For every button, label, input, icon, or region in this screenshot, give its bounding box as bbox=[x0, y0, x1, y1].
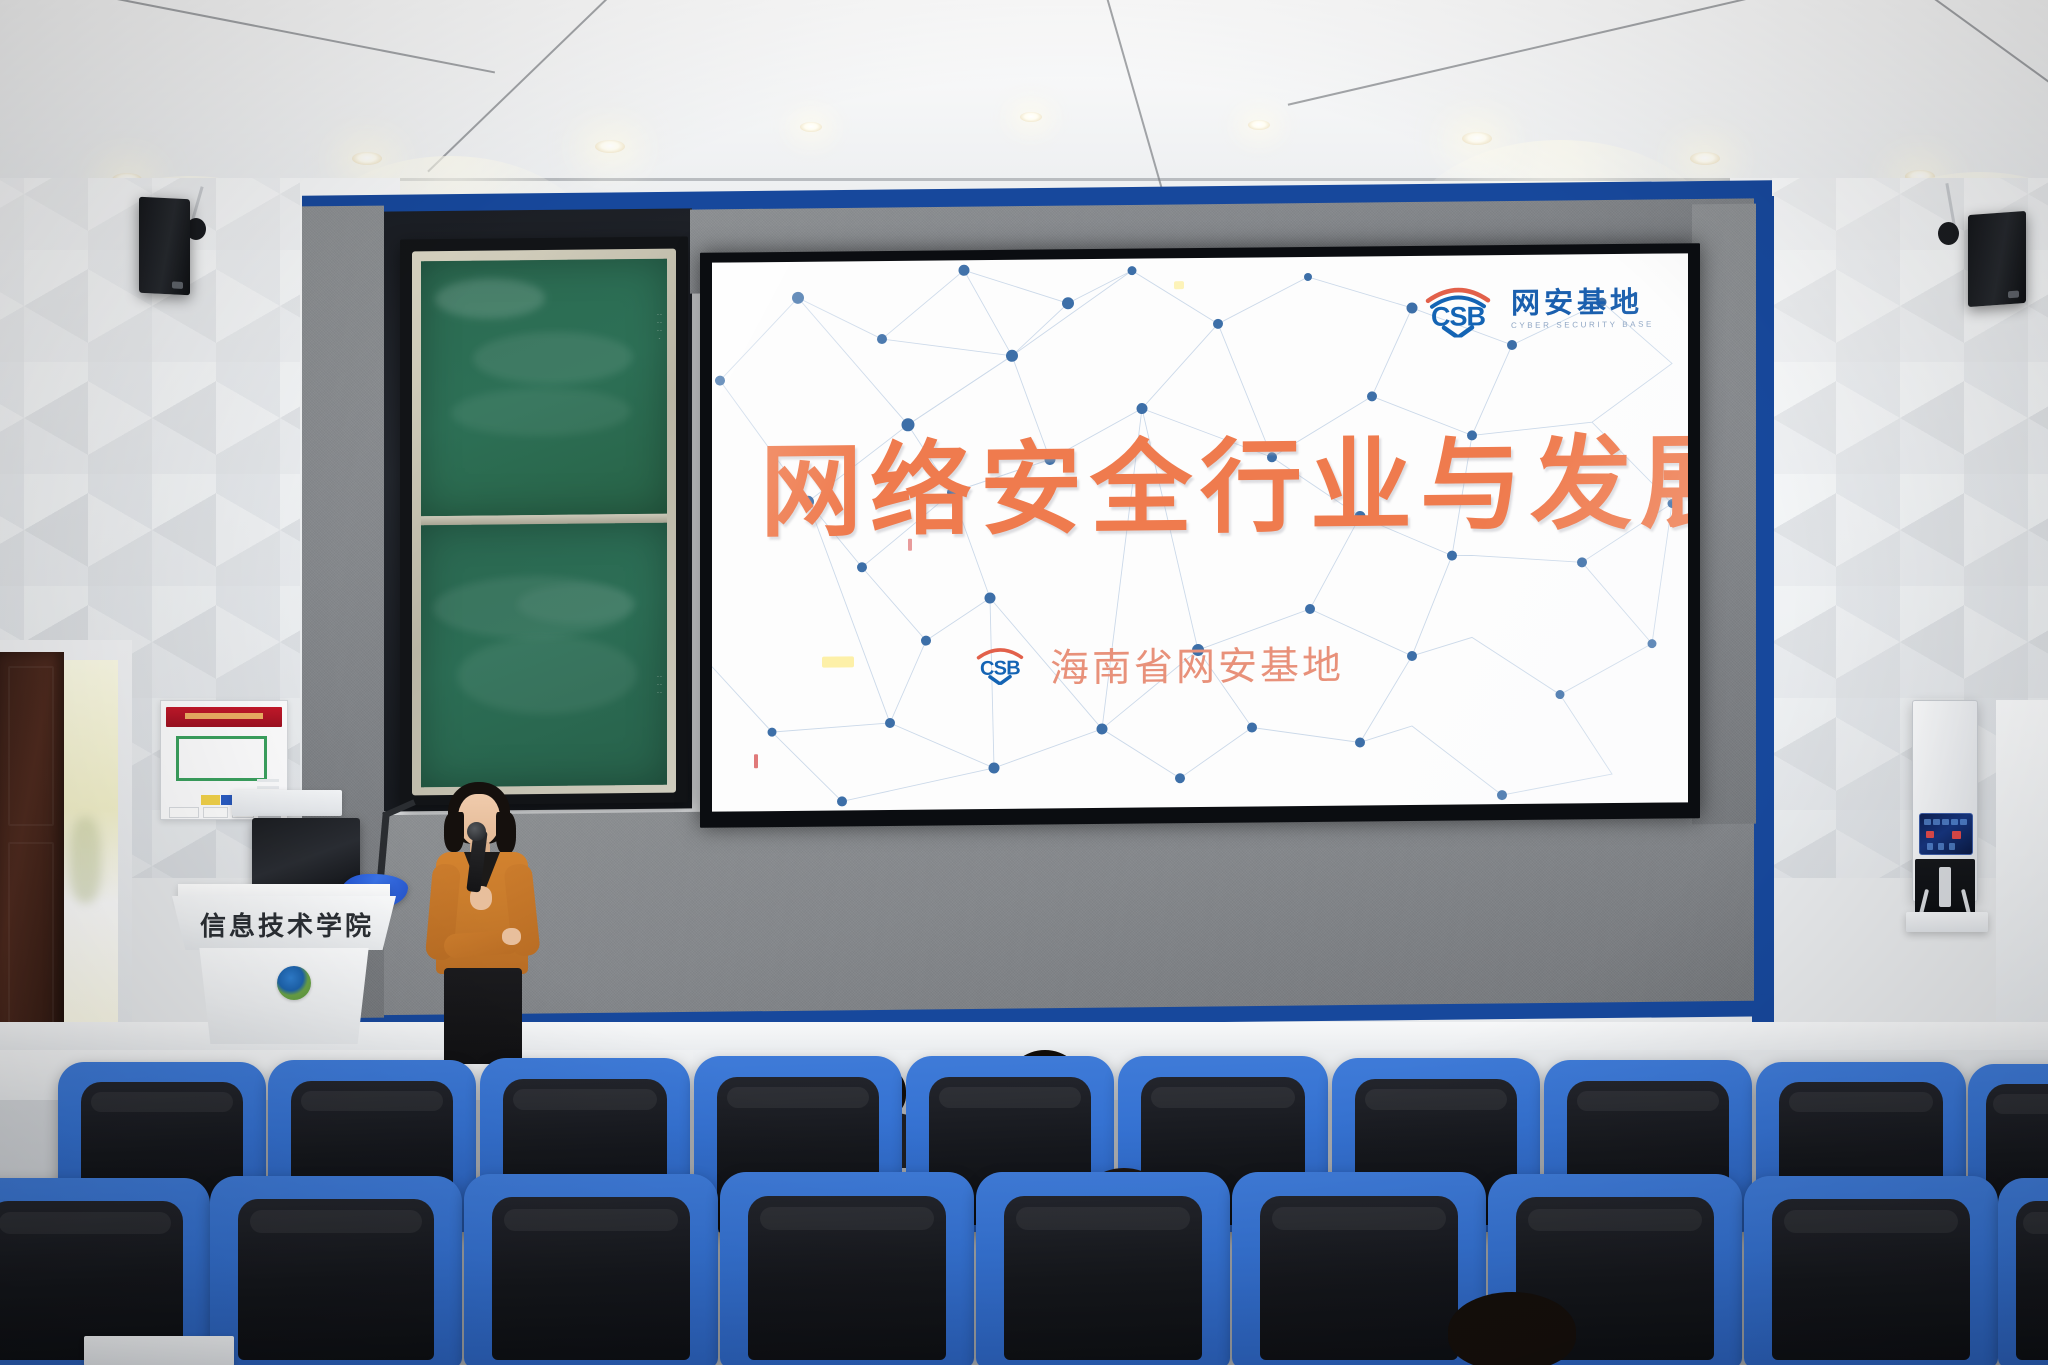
slide-subtitle-block: CSB 海南省网安基地 bbox=[970, 635, 1344, 695]
ceiling-spotlight bbox=[595, 140, 625, 153]
kiosk-screen-icon[interactable] bbox=[1919, 813, 1973, 855]
wall-socket-panel bbox=[232, 790, 342, 816]
presenter-skirt bbox=[444, 968, 522, 1064]
doorway-light bbox=[62, 660, 118, 1052]
brand-chinese-name: 网安基地 bbox=[1511, 287, 1654, 317]
ceiling-spotlight bbox=[352, 152, 382, 165]
ceiling bbox=[0, 0, 2048, 205]
auditorium-seat[interactable] bbox=[210, 1176, 462, 1365]
kiosk-tray bbox=[1906, 912, 1988, 932]
ceiling-spotlight bbox=[1020, 112, 1042, 122]
presentation-slide[interactable]: CSB 网安基地 CYBER SECURITY BASE 网络安全行业与发展 C… bbox=[712, 253, 1688, 811]
auditorium-seat[interactable] bbox=[1744, 1176, 1998, 1365]
chalkboard-panel-upper: - - - - - - - bbox=[421, 259, 667, 517]
auditorium-seat[interactable] bbox=[464, 1174, 718, 1365]
auditorium-seat[interactable] bbox=[976, 1172, 1230, 1365]
lecture-hall-scene: - - - - - - - - - - - - - bbox=[0, 0, 2048, 1365]
mic-head-icon bbox=[467, 822, 486, 841]
door-icon[interactable] bbox=[0, 652, 64, 1056]
chalkboard-panel-lower: - - - - - - bbox=[421, 523, 667, 788]
svg-text:CSB: CSB bbox=[980, 657, 1020, 679]
audience-head-front bbox=[1448, 1292, 1576, 1365]
wall-kiosk-unit[interactable] bbox=[1912, 700, 1978, 902]
notice-banner bbox=[166, 707, 282, 727]
brand-english-name: CYBER SECURITY BASE bbox=[1511, 320, 1654, 329]
monitor-icon bbox=[252, 818, 360, 888]
slide-subtitle-text: 海南省网安基地 bbox=[1050, 635, 1344, 694]
podium-label: 信息技术学院 bbox=[200, 906, 374, 943]
ceiling-spotlight bbox=[1462, 132, 1492, 145]
notice-yellow-strip bbox=[201, 795, 220, 804]
right-door-panel[interactable] bbox=[1996, 700, 2048, 1030]
seat-tablet-desk bbox=[84, 1336, 234, 1365]
slide-red-marker bbox=[754, 754, 758, 768]
slide-highlight-tag bbox=[822, 656, 854, 667]
auditorium-seat[interactable] bbox=[720, 1172, 974, 1365]
svg-text:CSB: CSB bbox=[1431, 301, 1486, 332]
stage-wall-right bbox=[1692, 204, 1756, 825]
auditorium-seat[interactable] bbox=[1998, 1178, 2048, 1365]
ceiling-spotlight bbox=[800, 122, 822, 132]
speaker-icon bbox=[139, 197, 190, 296]
ceiling-spotlight bbox=[1248, 120, 1270, 130]
slide-title: 网络安全行业与发展 bbox=[760, 401, 1688, 558]
csb-logo-small-icon: CSB bbox=[970, 642, 1030, 690]
school-emblem-icon bbox=[277, 966, 311, 1000]
slide-brand-logo: CSB 网安基地 CYBER SECURITY BASE bbox=[1416, 280, 1654, 338]
speaker-icon bbox=[1968, 211, 2026, 307]
ceiling-spotlight bbox=[1690, 152, 1720, 165]
stage-wall-lower bbox=[380, 801, 1754, 1015]
csb-logo-icon: CSB bbox=[1416, 281, 1500, 338]
presenter bbox=[410, 782, 550, 1062]
floor-plan-diagram bbox=[176, 736, 267, 781]
slide-highlight-tag bbox=[1174, 281, 1184, 289]
